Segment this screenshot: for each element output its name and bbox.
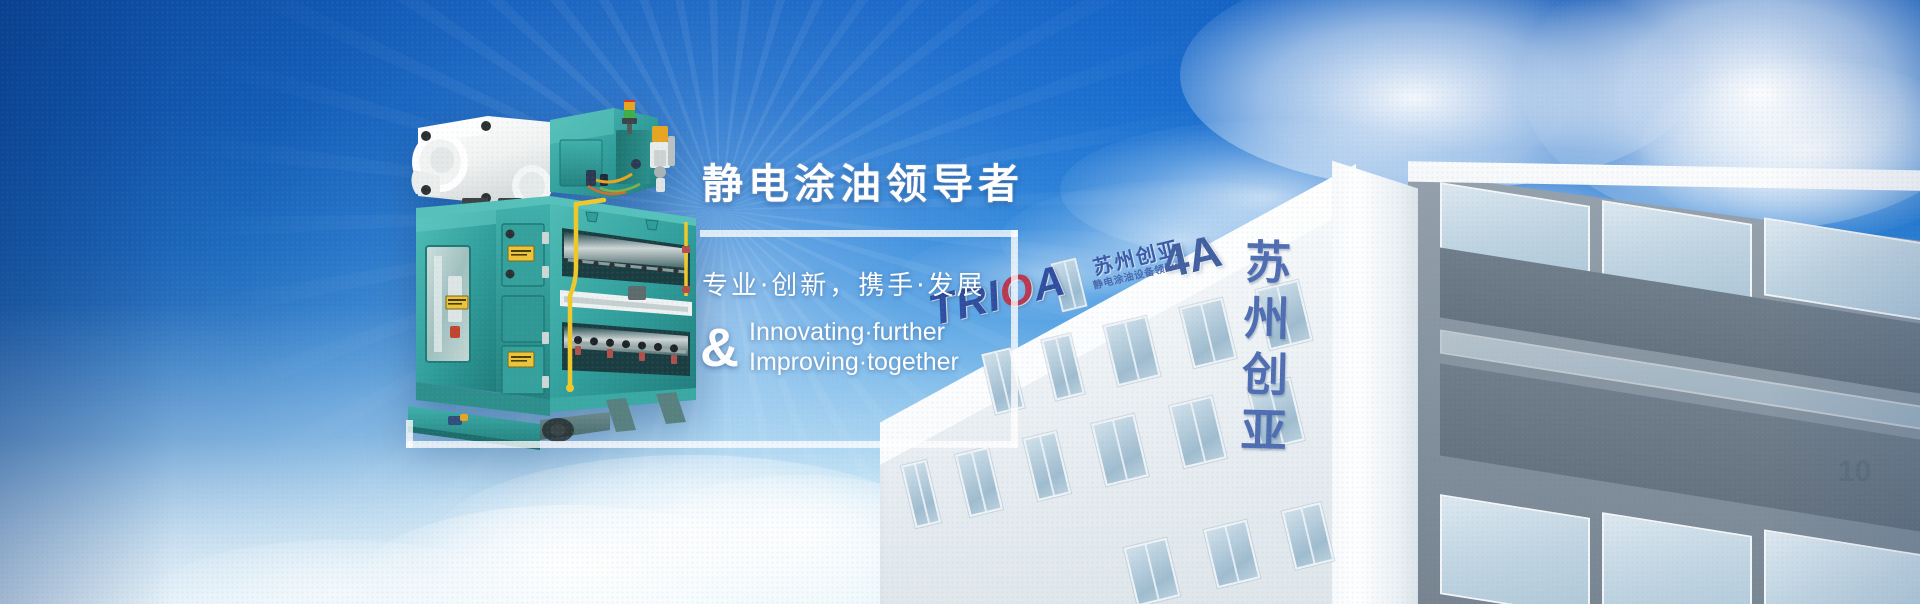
hero-banner: TRIOA 苏州创亚 静电涂油设备领导者 4A 苏州创亚 10 [0, 0, 1920, 604]
tagline-line-1: Innovating·further [749, 318, 959, 348]
sky-bottom-haze [0, 304, 1920, 604]
industrial-electrostatic-oiler-icon [400, 100, 700, 450]
page-title: 静电涂油领导者 [702, 150, 1024, 210]
ampersand-mark: & [700, 321, 739, 375]
tagline-english-block: & Innovating·further Improving·together [700, 318, 959, 377]
building-block-number: 10 [1838, 455, 1871, 489]
building-vertical-sign: 苏州创亚 [1229, 237, 1295, 462]
tagline-english-lines: Innovating·further Improving·together [749, 318, 959, 377]
subtitle-chinese: 专业·创新，携手·发展 [702, 265, 986, 302]
tagline-line-2: Improving·together [749, 348, 959, 378]
